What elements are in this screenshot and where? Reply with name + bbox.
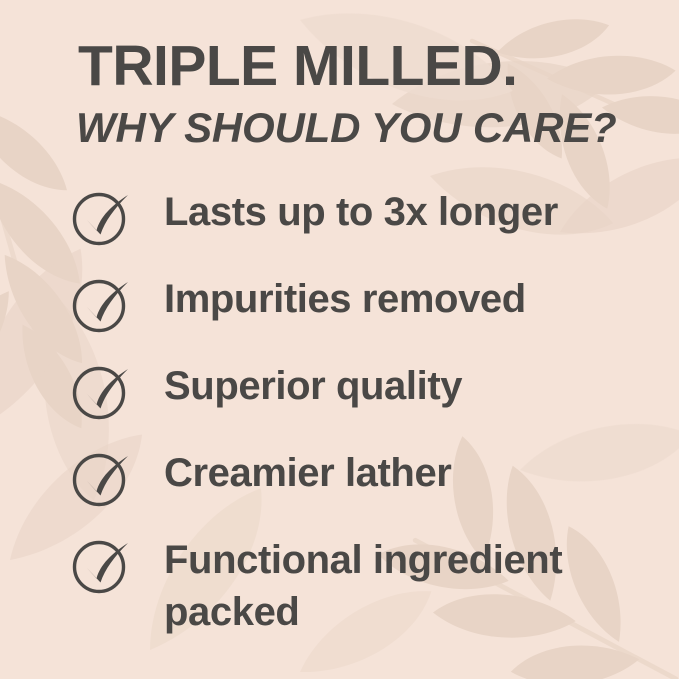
- list-item-label: Lasts up to 3x longer: [164, 186, 664, 238]
- check-circle-icon: [71, 449, 133, 509]
- check-circle-icon: [71, 362, 133, 422]
- list-item: Superior quality: [0, 360, 679, 447]
- list-item: Creamier lather: [0, 447, 679, 534]
- list-item-label: Impurities removed: [164, 273, 664, 325]
- check-circle-icon: [71, 188, 133, 248]
- list-item-label: Creamier lather: [164, 447, 664, 499]
- list-item-label: Superior quality: [164, 360, 664, 412]
- list-item: Impurities removed: [0, 273, 679, 360]
- list-item: Functional ingredient packed: [0, 534, 679, 621]
- list-item-label: Functional ingredient packed: [164, 534, 664, 638]
- triple-milled-infographic: TRIPLE MILLED. WHY SHOULD YOU CARE? Last…: [0, 0, 679, 679]
- check-circle-icon: [71, 275, 133, 335]
- check-circle-icon: [71, 536, 133, 596]
- page-subtitle: WHY SHOULD YOU CARE?: [76, 107, 616, 149]
- benefit-list: Lasts up to 3x longer Impurities removed: [0, 186, 679, 621]
- page-title: TRIPLE MILLED.: [78, 38, 517, 95]
- list-item: Lasts up to 3x longer: [0, 186, 679, 273]
